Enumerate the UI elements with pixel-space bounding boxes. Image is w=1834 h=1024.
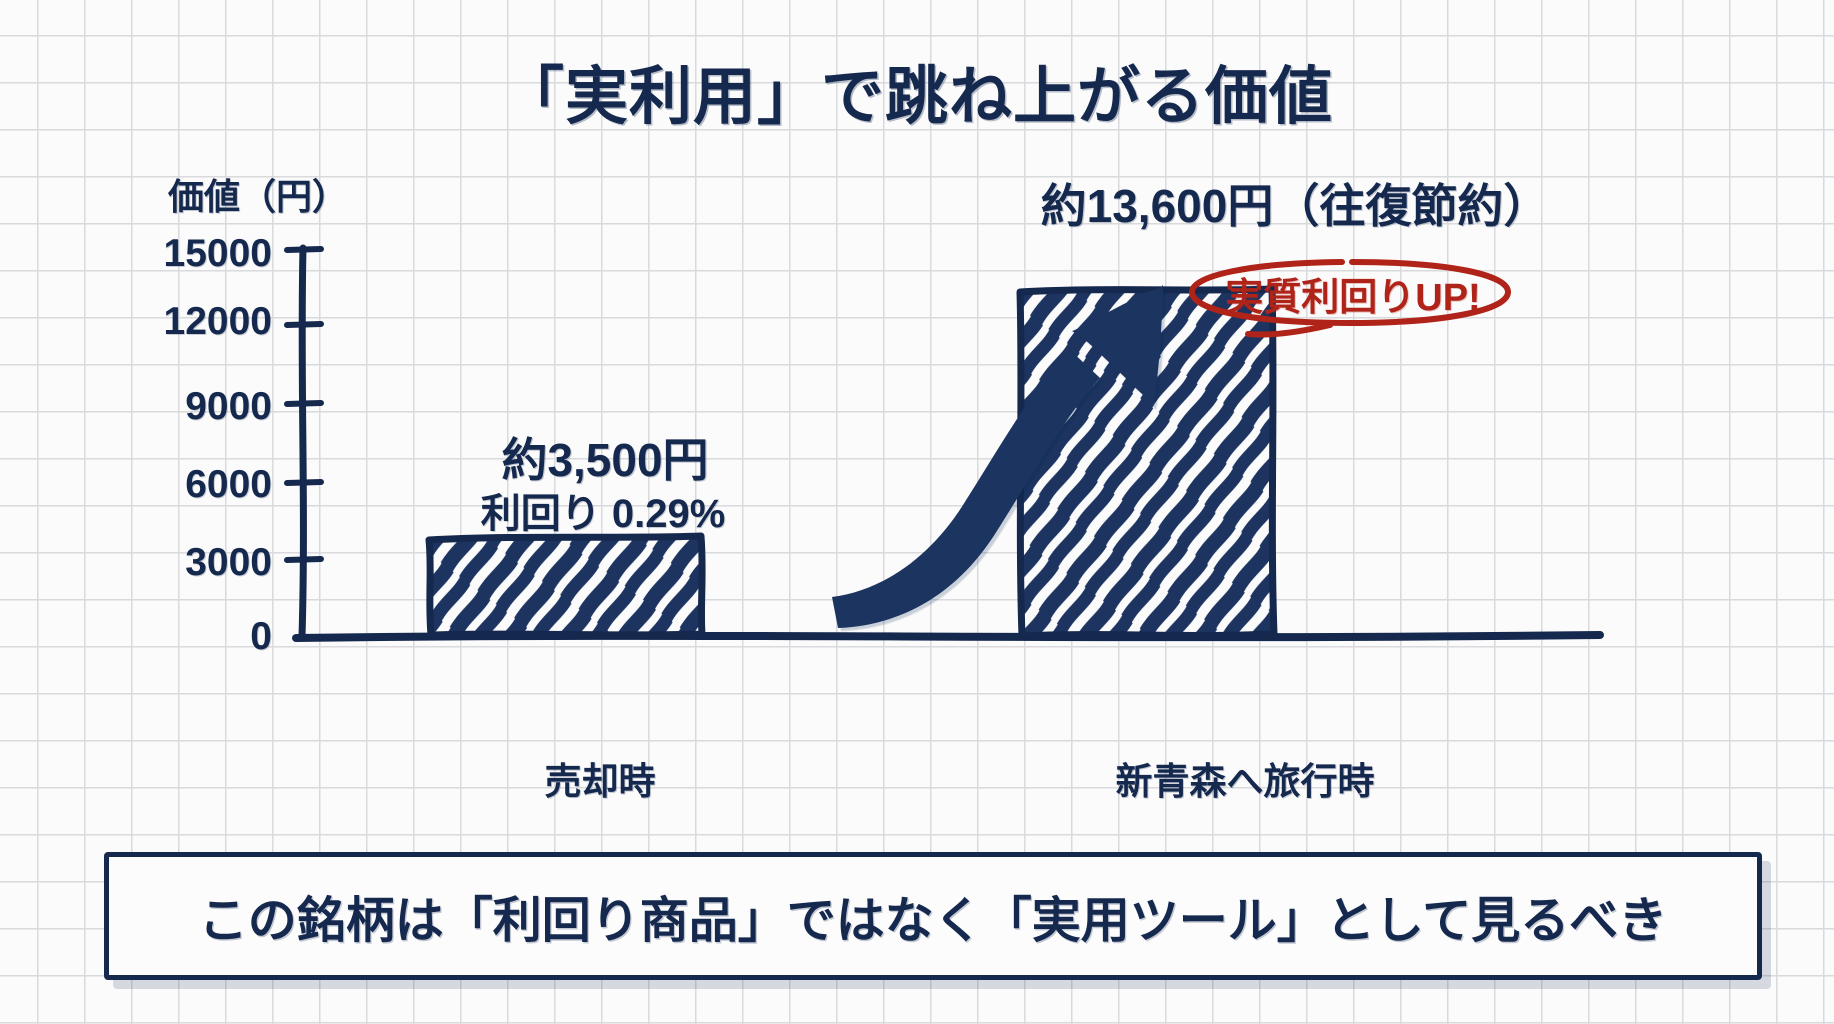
y-axis-line bbox=[302, 248, 303, 637]
infographic-canvas: 「実利用」で跳ね上がる価値 価値（円） 15000 12000 9000 600… bbox=[0, 0, 1834, 1024]
x-category-label-travel: 新青森へ旅行時 bbox=[965, 751, 1525, 805]
status-badge-yield-up: 実質利回りUP! bbox=[1188, 266, 1518, 321]
conclusion-banner-text: この銘柄は「利回り商品」ではなく「実用ツール」として見るべき bbox=[199, 881, 1668, 952]
conclusion-banner: この銘柄は「利回り商品」ではなく「実用ツール」として見るべき bbox=[104, 852, 1762, 980]
bar-travel-value-label: 約13,600円（往復節約） bbox=[880, 170, 1710, 236]
x-category-label-sale: 売却時 bbox=[400, 751, 800, 805]
bar-sale bbox=[429, 536, 702, 635]
bar-sale-yield-label: 利回り 0.29% bbox=[438, 481, 768, 539]
